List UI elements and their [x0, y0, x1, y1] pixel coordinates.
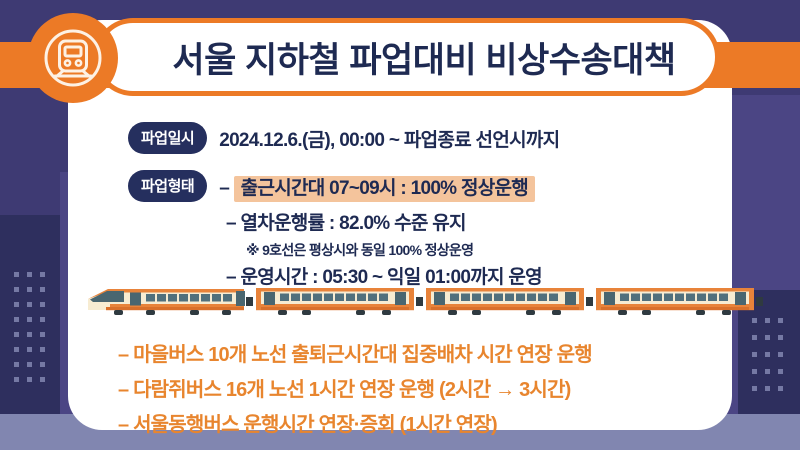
subway-train-icon: [28, 13, 118, 103]
dash-marker: –: [219, 178, 229, 199]
infographic-root: 서울 지하철 파업대비 비상수송대책 파업일시 2024.12.6.(금), 0…: [0, 0, 800, 450]
label-strike-type: 파업형태: [128, 170, 207, 202]
building-windows-right: [752, 318, 783, 391]
detail-line9-note: ※ 9호선은 평상시와 동일 100% 정상운영: [246, 240, 473, 260]
label-strike-datetime: 파업일시: [128, 122, 207, 154]
value-strike-type: 출근시간대 07~09시 : 100% 정상운행: [234, 176, 535, 202]
bullet-village-bus: – 마을버스 10개 노선 출퇴근시간대 집중배차 시간 연장 운행: [118, 338, 592, 367]
value-strike-type-wrap: – 출근시간대 07~09시 : 100% 정상운행: [219, 173, 535, 200]
bus-measures-list: – 마을버스 10개 노선 출퇴근시간대 집중배차 시간 연장 운행 – 다람쥐…: [118, 338, 592, 443]
info-row-date: 파업일시 2024.12.6.(금), 00:00 ~ 파업종료 선언시까지: [128, 122, 559, 154]
bullet-seoul-donghaeng-bus: – 서울동행버스 운행시간 연장·증회 (1시간 연장): [118, 408, 592, 437]
value-strike-datetime: 2024.12.6.(금), 00:00 ~ 파업종료 선언시까지: [219, 125, 559, 152]
title-banner: 서울 지하철 파업대비 비상수송대책: [94, 18, 720, 96]
bullet-squirrel-bus: – 다람쥐버스 16개 노선 1시간 연장 운행 (2시간 → 3시간): [118, 373, 592, 402]
subway-train-illustration: [86, 286, 766, 318]
info-row-type: 파업형태 – 출근시간대 07~09시 : 100% 정상운행: [128, 170, 535, 202]
detail-operation-rate: – 열차운행률 : 82.0% 수준 유지: [226, 208, 466, 235]
page-title: 서울 지하철 파업대비 비상수송대책: [138, 32, 675, 83]
detail-operating-hours: – 운영시간 : 05:30 ~ 익일 01:00까지 운영: [226, 262, 542, 289]
building-windows-left: [14, 272, 45, 382]
